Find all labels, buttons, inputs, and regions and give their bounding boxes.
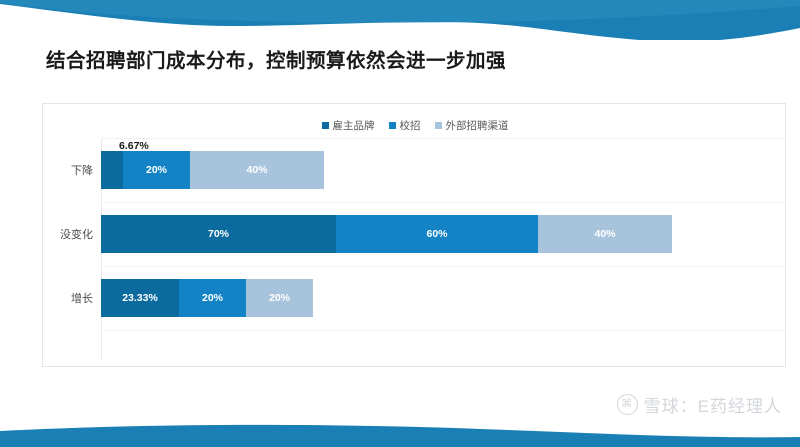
legend-swatch-icon [322,122,329,129]
stacked-bar: 23.33% 20% 20% [101,279,313,317]
chart-row-decrease: 下降 6.67% 6.67% 20% 40% [43,138,787,202]
category-label: 增长 [43,290,101,306]
bar-segment-external-channels[interactable]: 40% [538,215,672,253]
bottom-wave-decoration [0,421,800,447]
legend-label: 校招 [400,118,421,133]
legend-item-employer-brand[interactable]: 雇主品牌 [322,118,375,133]
chart-container: 雇主品牌 校招 外部招聘渠道 下降 6.67% [42,103,786,367]
top-wave-decoration [0,0,800,40]
watermark: ⌘ 雪球：E药经理人 [617,392,782,417]
chart-row-no-change: 没变化 70% 60% 40% [43,202,787,266]
top-wave-svg [0,0,800,40]
bar-segment-employer-brand[interactable]: 23.33% [101,279,179,317]
category-label: 没变化 [43,226,101,242]
xueqiu-logo-glyph: ⌘ [621,399,633,410]
page-title: 结合招聘部门成本分布，控制预算依然会进一步加强 [46,44,506,73]
legend-item-external-channels[interactable]: 外部招聘渠道 [435,118,509,133]
bar-segment-value: 20% [146,165,167,176]
bar-segment-campus-recruiting[interactable]: 20% [123,151,190,189]
stacked-bar: 6.67% 20% 40% [101,151,324,189]
bar-segment-value: 20% [202,293,223,304]
bar-track: 70% 60% 40% [101,202,787,266]
chart-row-increase: 增长 23.33% 20% 20% [43,266,787,330]
bottom-wave-svg [0,421,800,447]
bar-segment-employer-brand[interactable]: 70% [101,215,336,253]
watermark-text: 雪球：E药经理人 [644,392,782,417]
bar-segment-campus-recruiting[interactable]: 60% [336,215,538,253]
bar-segment-value: 23.33% [122,293,158,304]
bar-segment-value: 40% [246,165,267,176]
bar-segment-value: 40% [594,229,615,240]
legend-swatch-icon [435,122,442,129]
chart-legend: 雇主品牌 校招 外部招聘渠道 [43,118,787,133]
bar-segment-value: 70% [208,229,229,240]
xueqiu-logo-icon: ⌘ [617,394,638,415]
legend-label: 雇主品牌 [333,118,375,133]
gridline [101,330,785,331]
category-label: 下降 [43,162,101,178]
legend-item-campus-recruiting[interactable]: 校招 [389,118,421,133]
bar-segment-campus-recruiting[interactable]: 20% [179,279,246,317]
bottom-wave-shape [0,425,800,447]
bar-track: 6.67% 6.67% 20% 40% [101,138,787,202]
bar-segment-value: 20% [269,293,290,304]
stacked-bar: 70% 60% 40% [101,215,672,253]
chart-plot-area: 下降 6.67% 6.67% 20% 40% [43,138,787,366]
bar-segment-value: 60% [426,229,447,240]
bar-track: 23.33% 20% 20% [101,266,787,330]
bar-segment-employer-brand[interactable]: 6.67% [101,151,123,189]
legend-swatch-icon [389,122,396,129]
bar-segment-external-channels[interactable]: 20% [246,279,313,317]
bar-segment-external-channels[interactable]: 40% [190,151,324,189]
legend-label: 外部招聘渠道 [446,118,509,133]
